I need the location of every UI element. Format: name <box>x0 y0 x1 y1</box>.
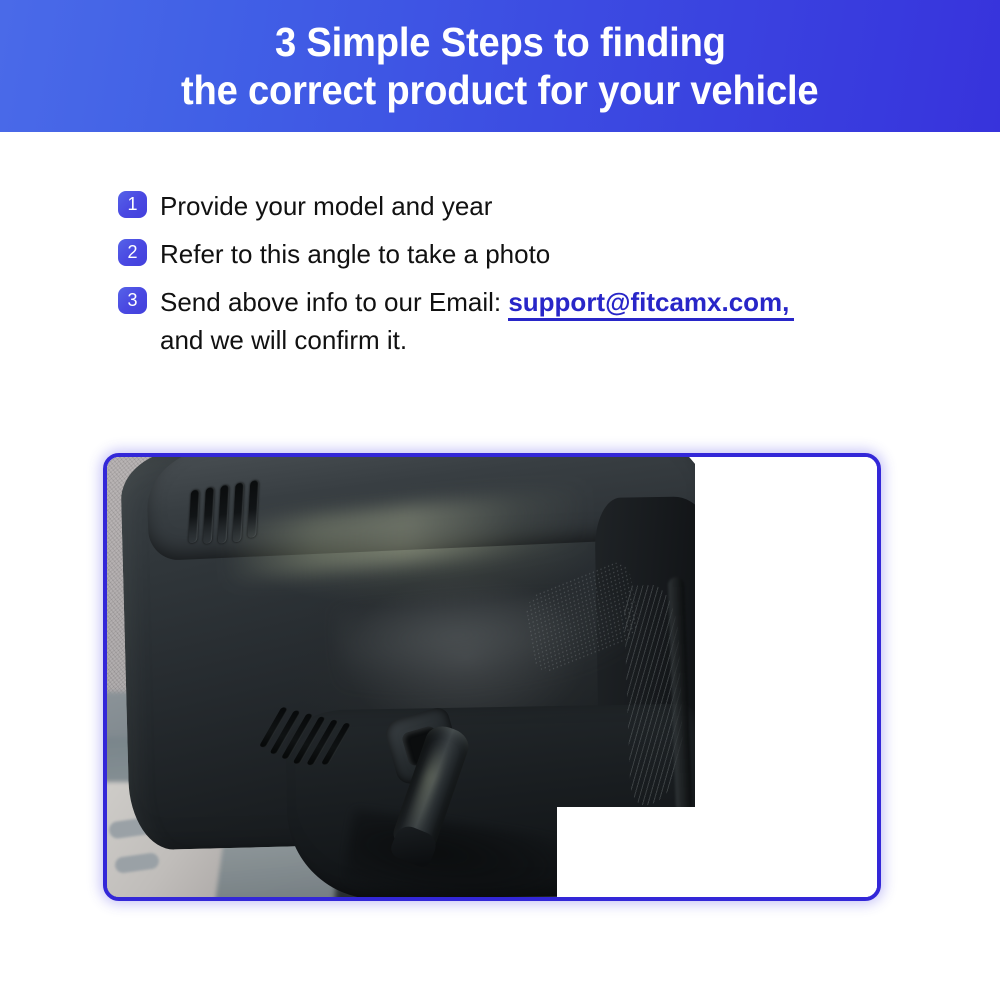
banner-title-line-2: the correct product for your vehicle <box>181 66 818 114</box>
number-badge-1-icon: 1 <box>118 191 147 218</box>
rear-view-mirror-photo <box>107 457 877 897</box>
banner-title-line-1: 3 Simple Steps to finding <box>275 18 726 66</box>
steps-list: 1 Provide your model and year 2 Refer to… <box>118 186 938 368</box>
step-item-2: 2 Refer to this angle to take a photo <box>118 234 938 274</box>
step-3-text: Send above info to our Email: support@fi… <box>160 282 794 360</box>
step-3-trailing-text: and we will confirm it. <box>160 320 794 360</box>
reference-photo-frame[interactable] <box>103 453 881 901</box>
number-badge-2-icon: 2 <box>118 239 147 266</box>
louver-slot <box>203 487 215 545</box>
step-item-1: 1 Provide your model and year <box>118 186 938 226</box>
number-badge-3-icon: 3 <box>118 287 147 314</box>
louver-slot <box>247 480 259 539</box>
step-2-text: Refer to this angle to take a photo <box>160 234 550 274</box>
support-email-link[interactable]: support@fitcamx.com, <box>508 287 794 321</box>
header-banner: 3 Simple Steps to finding the correct pr… <box>0 0 1000 132</box>
louver-slot <box>232 482 244 543</box>
photo-white-background-bottom <box>557 807 877 897</box>
step-3-lead-text: Send above info to our Email: <box>160 287 508 317</box>
louver-slot <box>188 489 200 543</box>
louver-slot <box>218 484 230 544</box>
step-1-text: Provide your model and year <box>160 186 492 226</box>
step-item-3: 3 Send above info to our Email: support@… <box>118 282 938 360</box>
